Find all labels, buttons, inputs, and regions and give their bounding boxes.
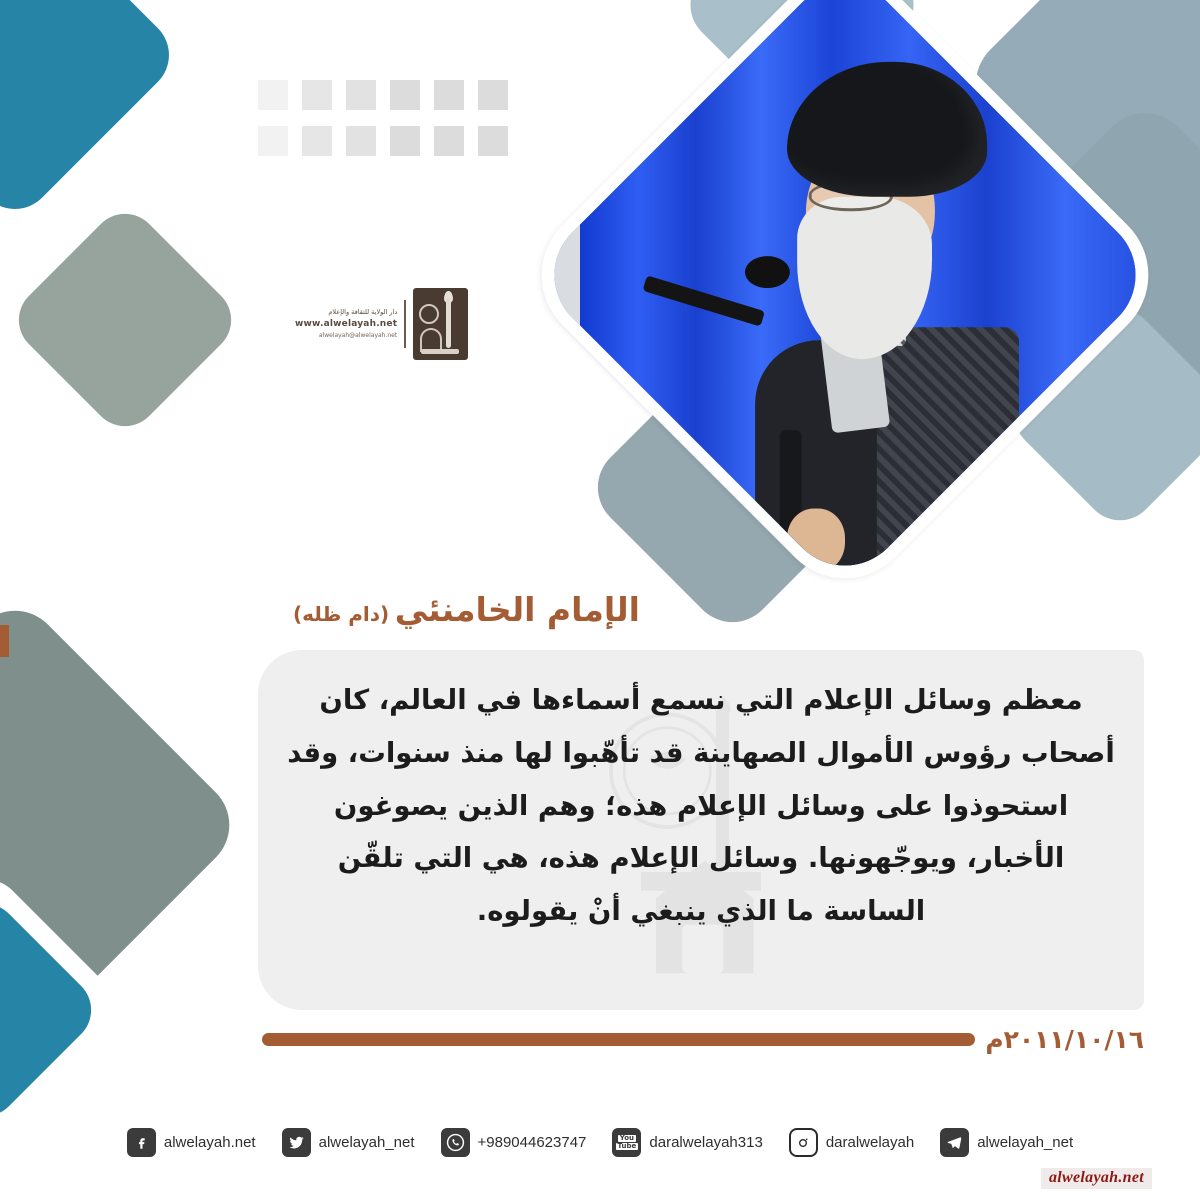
quote-body: معظم وسائل الإعلام التي نسمع أسماءها في … <box>258 650 1144 956</box>
logo-base <box>421 349 459 354</box>
publisher-name: دار الولاية للثقافة والإعلام <box>295 308 397 318</box>
grid-square <box>258 126 288 156</box>
grid-square <box>302 126 332 156</box>
poster-canvas: دار الولاية للثقافة والإعلام www.alwelay… <box>0 0 1200 1200</box>
grid-square <box>390 80 420 110</box>
instagram-icon[interactable] <box>789 1128 818 1157</box>
grid-square <box>346 126 376 156</box>
social-item-instagram[interactable]: daralwelayah <box>789 1128 914 1157</box>
publisher-site[interactable]: www.alwelayah.net <box>295 318 397 332</box>
grid-square <box>390 126 420 156</box>
social-item-telegram[interactable]: alwelayah_net <box>940 1128 1073 1157</box>
publisher-logo: دار الولاية للثقافة والإعلام www.alwelay… <box>293 288 468 360</box>
twitter-handle[interactable]: alwelayah_net <box>319 1134 415 1151</box>
decor-diamond-teal-top-left <box>0 0 185 225</box>
speaker-honorific: (دام ظله) <box>293 602 389 626</box>
social-item-facebook[interactable]: alwelayah.net <box>127 1128 256 1157</box>
speaker-name: الإمام الخامنئي <box>395 590 640 629</box>
photo-cloak <box>877 327 1019 591</box>
date-rule <box>262 1033 975 1046</box>
whatsapp-icon[interactable] <box>441 1128 470 1157</box>
alif-stroke <box>446 298 451 348</box>
youtube-handle[interactable]: daralwelayah313 <box>649 1134 762 1151</box>
youtube-icon-top: You <box>618 1135 636 1142</box>
publisher-email[interactable]: alwelayah@alwelayah.net <box>295 331 397 340</box>
twitter-icon[interactable] <box>282 1128 311 1157</box>
quote-card: معظم وسائل الإعلام التي نسمع أسماءها في … <box>258 650 1144 1010</box>
lantern-logo-icon <box>413 288 468 360</box>
grid-square <box>478 80 508 110</box>
telegram-handle[interactable]: alwelayah_net <box>977 1134 1073 1151</box>
page-title: الإمام الخامنئي (دام ظله) <box>293 590 640 629</box>
logo-divider <box>404 300 406 348</box>
grid-square <box>258 80 288 110</box>
publisher-text: دار الولاية للثقافة والإعلام www.alwelay… <box>293 308 397 340</box>
date-row: ٢٠١١/١٠/١٦م <box>262 1022 1144 1056</box>
circle-ornament <box>419 304 439 324</box>
grid-square <box>434 126 464 156</box>
whatsapp-number[interactable]: +989044623747 <box>478 1134 587 1151</box>
photo-microphone-head <box>745 256 790 288</box>
social-item-whatsapp[interactable]: +989044623747 <box>441 1128 587 1157</box>
facebook-icon[interactable] <box>127 1128 156 1157</box>
grid-square <box>302 80 332 110</box>
facebook-handle[interactable]: alwelayah.net <box>164 1134 256 1151</box>
decor-square-grid <box>258 80 508 156</box>
grid-square <box>434 80 464 110</box>
grid-square <box>346 80 376 110</box>
grid-square <box>478 126 508 156</box>
youtube-icon[interactable]: You Tube <box>612 1128 641 1157</box>
social-item-twitter[interactable]: alwelayah_net <box>282 1128 415 1157</box>
social-footer: alwelayah.net alwelayah_net +98904462374… <box>0 1128 1200 1157</box>
youtube-icon-bottom: Tube <box>616 1143 639 1150</box>
site-url-tag[interactable]: alwelayah.net <box>1041 1168 1152 1189</box>
instagram-handle[interactable]: daralwelayah <box>826 1134 914 1151</box>
telegram-icon[interactable] <box>940 1128 969 1157</box>
decor-edge-mark <box>0 625 9 657</box>
social-item-youtube[interactable]: You Tube daralwelayah313 <box>612 1128 762 1157</box>
decor-diamond-gray-top-left <box>5 200 245 440</box>
quote-date: ٢٠١١/١٠/١٦م <box>985 1025 1144 1054</box>
